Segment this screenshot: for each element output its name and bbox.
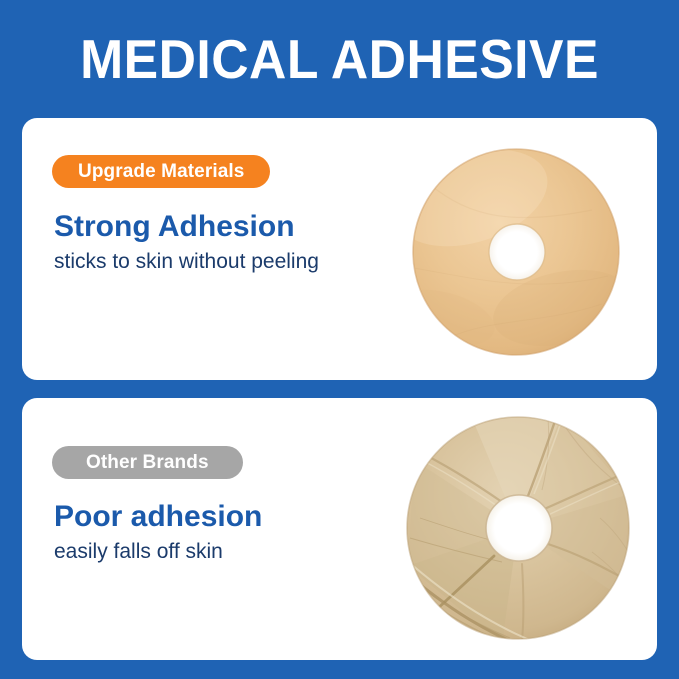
body-strong-adhesion: sticks to skin without peeling [54, 249, 384, 275]
wrinkled-adhesive-ring-icon [352, 398, 657, 660]
product-infographic: MEDICAL ADHESIVE Upgrade Materials Stron… [0, 0, 679, 679]
page-title: MEDICAL ADHESIVE [20, 28, 658, 90]
heading-strong-adhesion: Strong Adhesion [54, 209, 295, 245]
wrinkled-adhesive-ring-image [352, 398, 657, 660]
card-upgrade-materials: Upgrade Materials Strong Adhesion sticks… [22, 118, 657, 380]
badge-other-brands: Other Brands [52, 446, 243, 479]
card-other-brands: Other Brands Poor adhesion easily falls … [22, 398, 657, 660]
body-poor-adhesion: easily falls off skin [54, 539, 384, 565]
smooth-adhesive-ring-image [352, 118, 657, 380]
smooth-adhesive-ring-icon [352, 118, 657, 380]
badge-upgrade-materials: Upgrade Materials [52, 155, 270, 188]
heading-poor-adhesion: Poor adhesion [54, 499, 262, 535]
